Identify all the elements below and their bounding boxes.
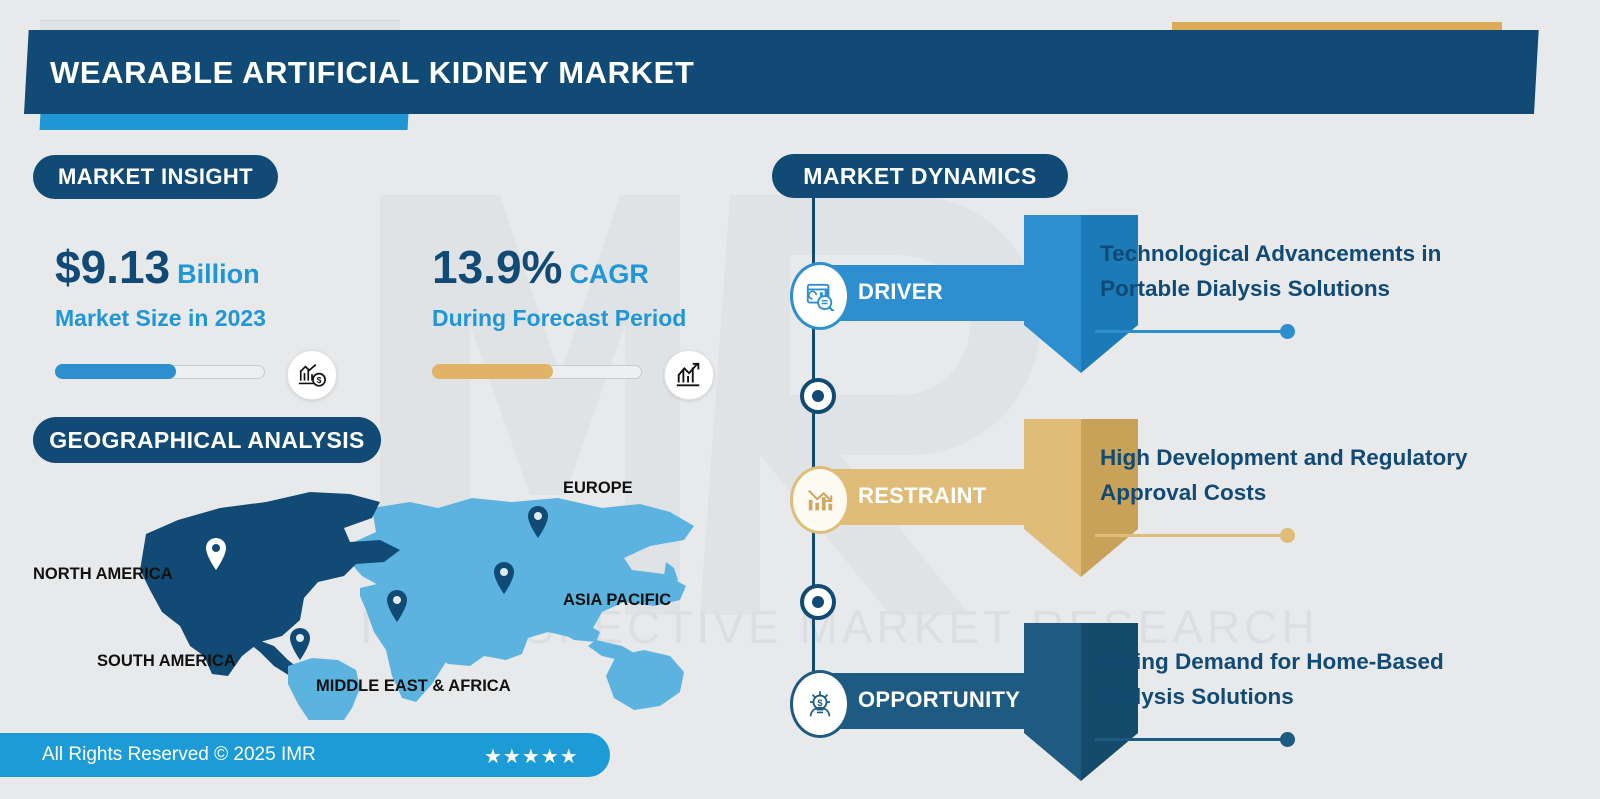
svg-text:$: $ xyxy=(317,375,322,385)
dynamics-description-line1: Rising Demand for Home-Based xyxy=(1100,645,1520,680)
restraint-connector-dot xyxy=(1280,528,1295,543)
driver-connector-line xyxy=(1095,330,1287,333)
dynamics-category-label: DRIVER xyxy=(858,279,943,305)
title-underline-bar xyxy=(40,114,409,130)
page-title: WEARABLE ARTIFICIAL KIDNEY MARKET xyxy=(50,55,694,91)
bar-chart-dollar-icon: $ xyxy=(287,350,337,400)
stat-card-market-size: $9.13Billion Market Size in 2023 $ xyxy=(55,240,295,388)
dynamics-description: High Development and Regulatory Approval… xyxy=(1100,441,1540,511)
opportunity-connector-dot xyxy=(1280,732,1295,747)
progress-fill xyxy=(55,364,176,379)
growth-chart-icon xyxy=(664,350,714,400)
geographical-analysis-pill: GEOGRAPHICAL ANALYSIS xyxy=(33,417,381,463)
stat-label: Market Size in 2023 xyxy=(55,305,295,332)
dynamics-category-label: RESTRAINT xyxy=(858,483,987,509)
map-label-asia-pacific: ASIA PACIFIC xyxy=(563,591,671,610)
timeline-node-1 xyxy=(800,378,836,414)
stat-unit: CAGR xyxy=(569,259,649,289)
dynamics-category-label: OPPORTUNITY xyxy=(858,687,1020,713)
stat-value: 13.9% xyxy=(432,241,562,293)
dynamics-description: Rising Demand for Home-Based Dialysis So… xyxy=(1100,645,1520,715)
dynamics-description-line2: Dialysis Solutions xyxy=(1100,680,1520,715)
infographic-canvas: INTROSPECTIVE MARKET RESEARCH WEARABLE A… xyxy=(0,0,1600,799)
stat-label: During Forecast Period xyxy=(432,305,686,332)
restraint-connector-line xyxy=(1095,534,1287,537)
svg-text:$: $ xyxy=(817,698,823,708)
market-insight-pill: MARKET INSIGHT xyxy=(33,155,278,199)
report-magnifier-icon xyxy=(790,262,850,330)
progress-fill xyxy=(432,364,553,379)
progress-bar xyxy=(432,354,672,388)
dynamics-description-line1: High Development and Regulatory xyxy=(1100,441,1540,476)
map-label-south-america: SOUTH AMERICA xyxy=(97,652,236,671)
timeline-node-2 xyxy=(800,584,836,620)
stat-unit: Billion xyxy=(177,259,260,289)
timeline-segment-3 xyxy=(812,610,815,676)
opportunity-connector-line xyxy=(1095,738,1287,741)
market-dynamics-pill: MARKET DYNAMICS xyxy=(772,154,1068,198)
rating-stars: ★★★★★ xyxy=(484,744,579,769)
map-label-middle-east-africa: MIDDLE EAST & AFRICA xyxy=(316,677,511,696)
dynamics-description: Technological Advancements in Portable D… xyxy=(1100,237,1520,307)
declining-bar-chart-icon xyxy=(790,466,850,534)
dynamics-description-line2: Portable Dialysis Solutions xyxy=(1100,272,1520,307)
map-label-north-america: NORTH AMERICA xyxy=(33,565,173,584)
progress-bar: $ xyxy=(55,354,295,388)
dynamics-description-line2: Approval Costs xyxy=(1100,476,1540,511)
dynamics-description-line1: Technological Advancements in xyxy=(1100,237,1520,272)
stat-card-cagr: 13.9%CAGR During Forecast Period xyxy=(432,240,686,388)
map-pin-south-america xyxy=(290,628,310,660)
map-label-europe: EUROPE xyxy=(563,479,633,498)
driver-connector-dot xyxy=(1280,324,1295,339)
copyright-text: All Rights Reserved © 2025 IMR xyxy=(42,744,316,766)
lightbulb-dollar-icon: $ xyxy=(790,670,850,738)
map-region-australia xyxy=(606,650,684,710)
stat-value: $9.13 xyxy=(55,241,170,293)
